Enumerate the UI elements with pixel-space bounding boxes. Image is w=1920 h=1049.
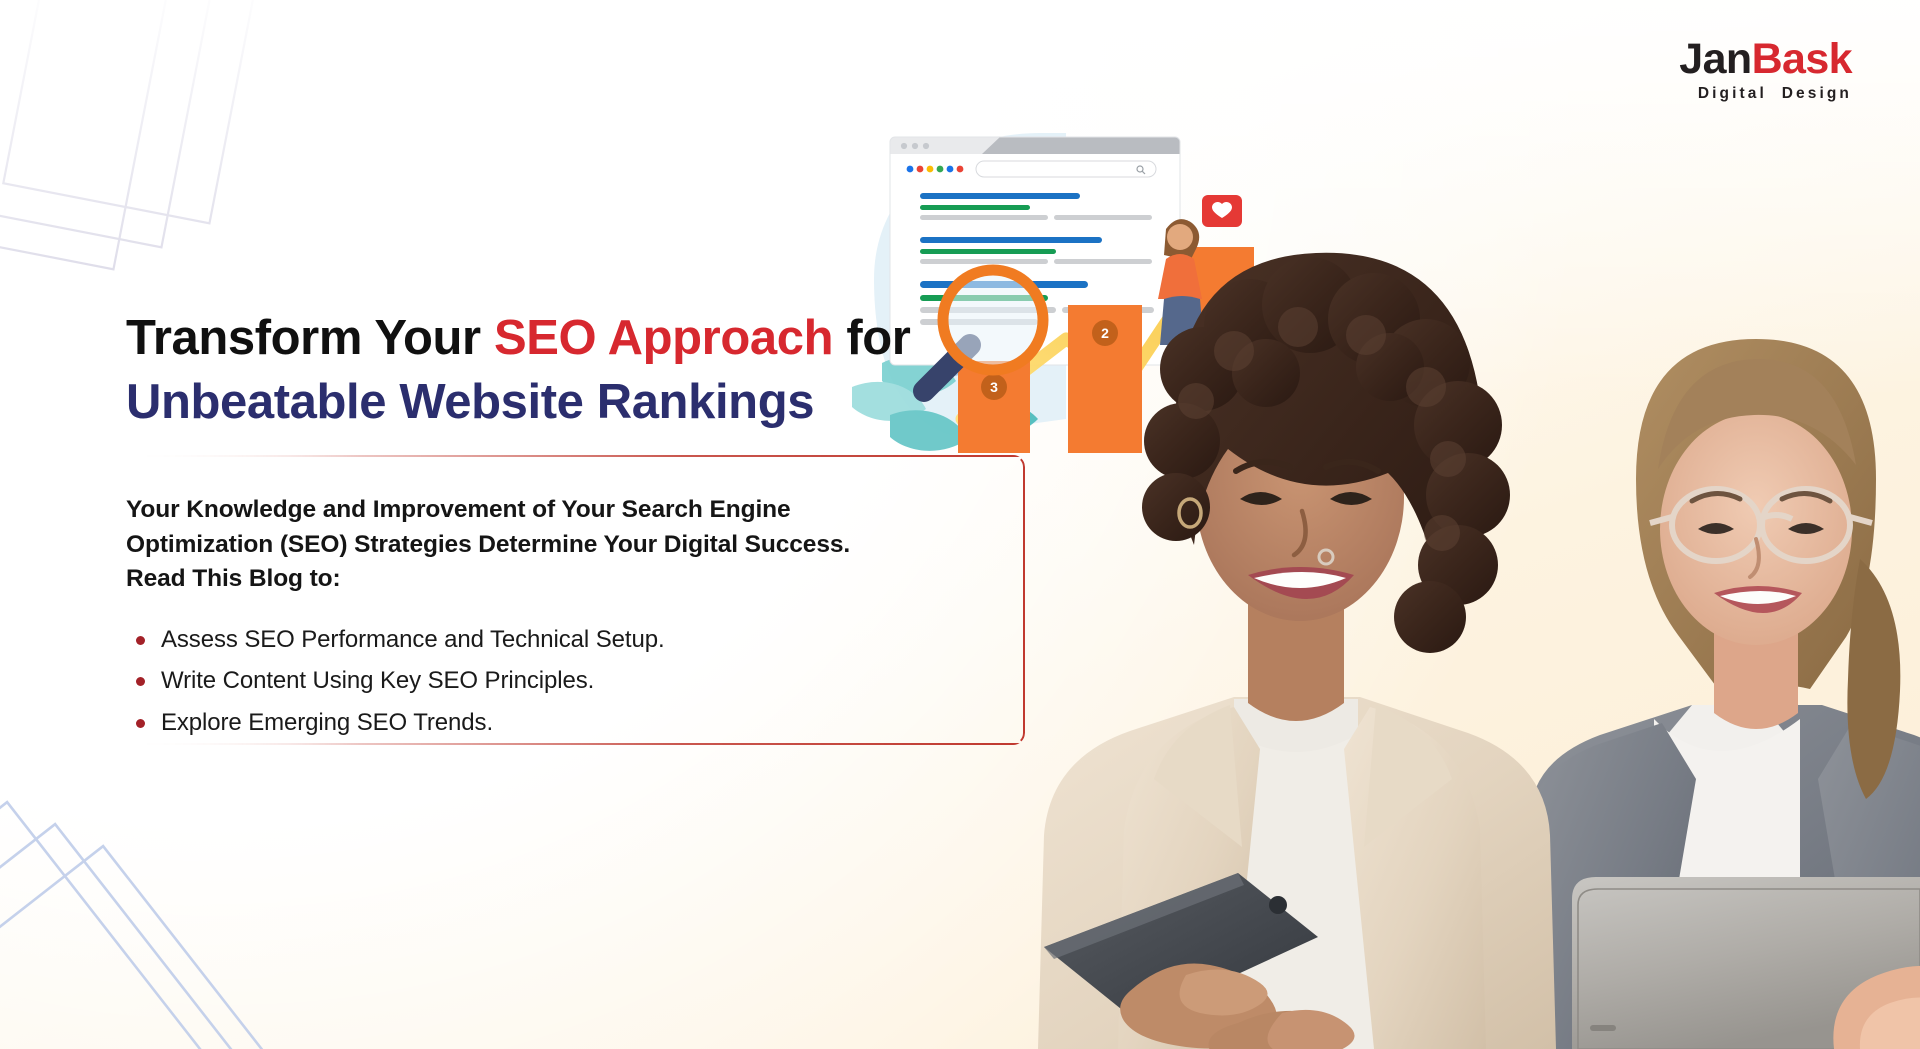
svg-text:2: 2 <box>1101 325 1109 341</box>
banner-canvas: 3 2 <box>0 0 1920 1049</box>
person-with-heart-reaction <box>1158 195 1242 345</box>
headline-accent: SEO Approach <box>494 311 833 365</box>
list-item: Write Content Using Key SEO Principles. <box>126 664 985 698</box>
hero-copy: Transform Your SEO Approach for Unbeatab… <box>126 307 1026 434</box>
woman-left <box>1038 253 1556 1049</box>
tablet <box>1044 873 1318 1021</box>
headline-line1-before: Transform Your <box>126 311 494 365</box>
rotated-rectangles-bottom-left-icon <box>0 729 320 1049</box>
laptop <box>1572 877 1920 1049</box>
eyeglasses-icon <box>1650 489 1872 561</box>
benefits-list: Assess SEO Performance and Technical Set… <box>126 623 985 740</box>
janbask-logo[interactable]: JanBask Digital Design <box>1679 38 1852 103</box>
panel-lede: Your Knowledge and Improvement of Your S… <box>126 493 916 597</box>
woman-right <box>1530 339 1920 1049</box>
list-item: Assess SEO Performance and Technical Set… <box>126 623 985 657</box>
two-women-with-laptop-photo <box>1038 253 1920 1049</box>
logo-word-bask: Bask <box>1752 35 1852 83</box>
logo-wordmark: JanBask <box>1679 38 1852 82</box>
logo-tagline: Digital Design <box>1679 85 1852 103</box>
highlight-panel: Your Knowledge and Improvement of Your S… <box>126 455 1025 745</box>
hands-holding-tablet <box>1120 963 1354 1049</box>
hand-on-laptop <box>1833 966 1920 1049</box>
list-item: Explore Emerging SEO Trends. <box>126 706 985 740</box>
logo-word-jan: Jan <box>1679 35 1751 83</box>
headline-line2: Unbeatable Website Rankings <box>126 371 1026 435</box>
headline-line1-after: for <box>833 311 910 365</box>
page-title: Transform Your SEO Approach for Unbeatab… <box>126 307 1026 434</box>
